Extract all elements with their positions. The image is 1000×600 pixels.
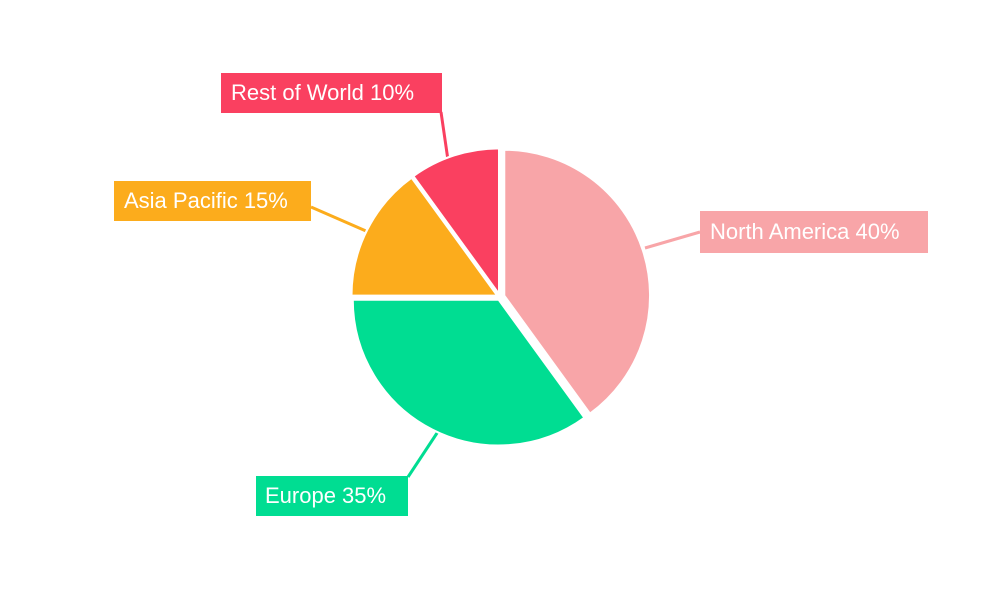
label-rest-of-world[interactable]: Rest of World 10% [221, 73, 442, 113]
label-text-europe: Europe 35% [265, 483, 386, 508]
pie-chart-figure: North America 40% Europe 35% Asia Pacifi… [0, 0, 1000, 600]
label-asia-pacific[interactable]: Asia Pacific 15% [114, 181, 311, 221]
pie-chart-canvas: North America 40% Europe 35% Asia Pacifi… [0, 0, 1000, 600]
label-text-north-america: North America 40% [710, 219, 900, 244]
label-text-asia-pacific: Asia Pacific 15% [124, 188, 288, 213]
label-europe[interactable]: Europe 35% [256, 476, 408, 516]
label-north-america[interactable]: North America 40% [700, 211, 928, 253]
label-text-rest-of-world: Rest of World 10% [231, 80, 414, 105]
